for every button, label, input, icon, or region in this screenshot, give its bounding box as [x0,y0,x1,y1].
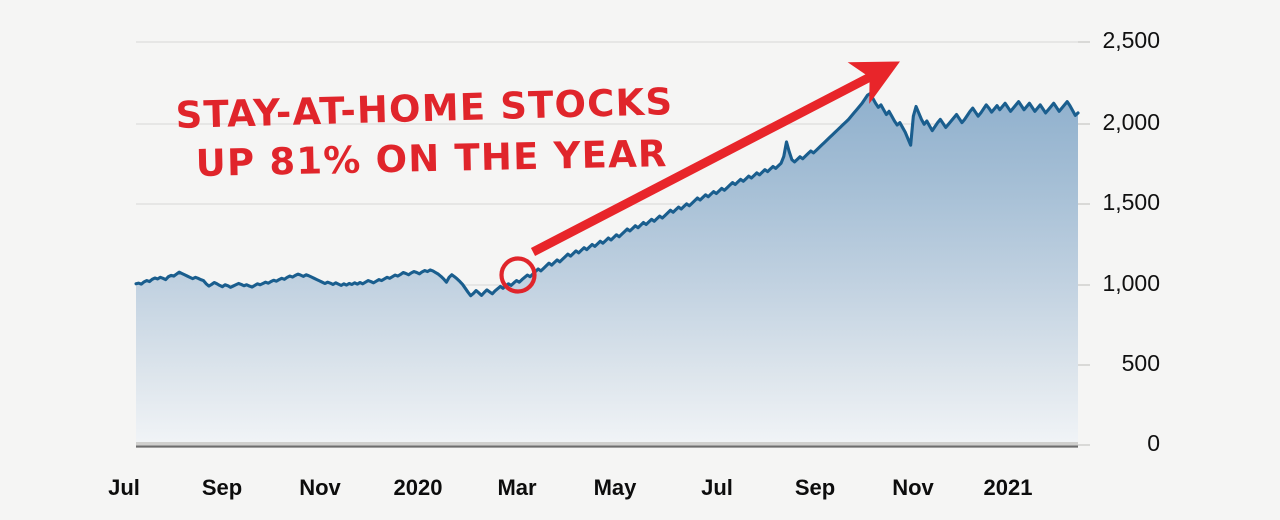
x-tick-label-2021: 2021 [984,475,1033,500]
x-tick-label-jul-2020: Jul [701,475,733,500]
y-tick-label-500: 500 [1122,350,1160,376]
x-tick-label-nov-2019: Nov [299,475,341,500]
y-tick-label-1500: 1,500 [1102,189,1160,215]
y-tick-label-2000: 2,000 [1102,109,1160,135]
x-axis-baseline [136,444,1078,447]
y-tick-label-0: 0 [1147,430,1160,456]
y-tick-label-2500: 2,500 [1102,27,1160,53]
x-tick-label-may-2020: May [594,475,638,500]
x-tick-label-jul-2019: Jul [108,475,140,500]
x-tick-label-sep-2020: Sep [795,475,835,500]
x-tick-label-mar-2020: Mar [497,475,537,500]
x-tick-label-sep-2019: Sep [202,475,242,500]
y-tick-label-1000: 1,000 [1102,270,1160,296]
x-tick-label-nov-2020: Nov [892,475,934,500]
stock-chart: 2,500 2,000 1,500 1,000 500 0 Jul Sep No… [0,0,1280,520]
x-tick-label-2020: 2020 [394,475,443,500]
